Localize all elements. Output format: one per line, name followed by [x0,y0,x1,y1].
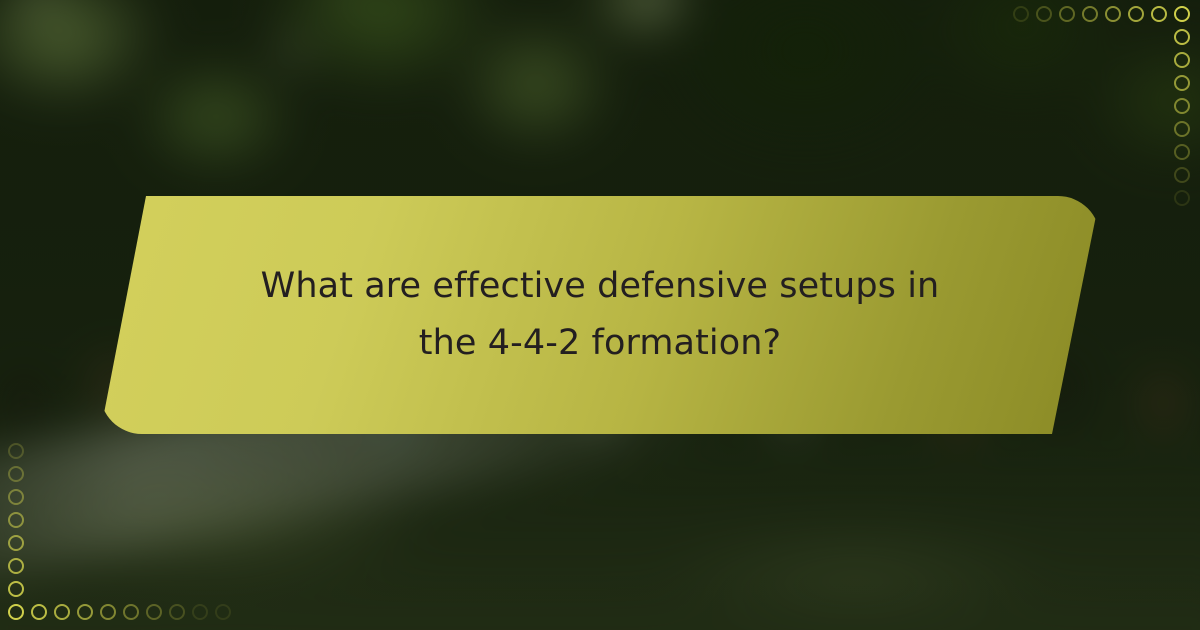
question-text: What are effective defensive setups in t… [230,258,970,371]
question-card-content: What are effective defensive setups in t… [100,196,1100,434]
question-card: What are effective defensive setups in t… [100,196,1100,434]
share-card-canvas: What are effective defensive setups in t… [0,0,1200,630]
